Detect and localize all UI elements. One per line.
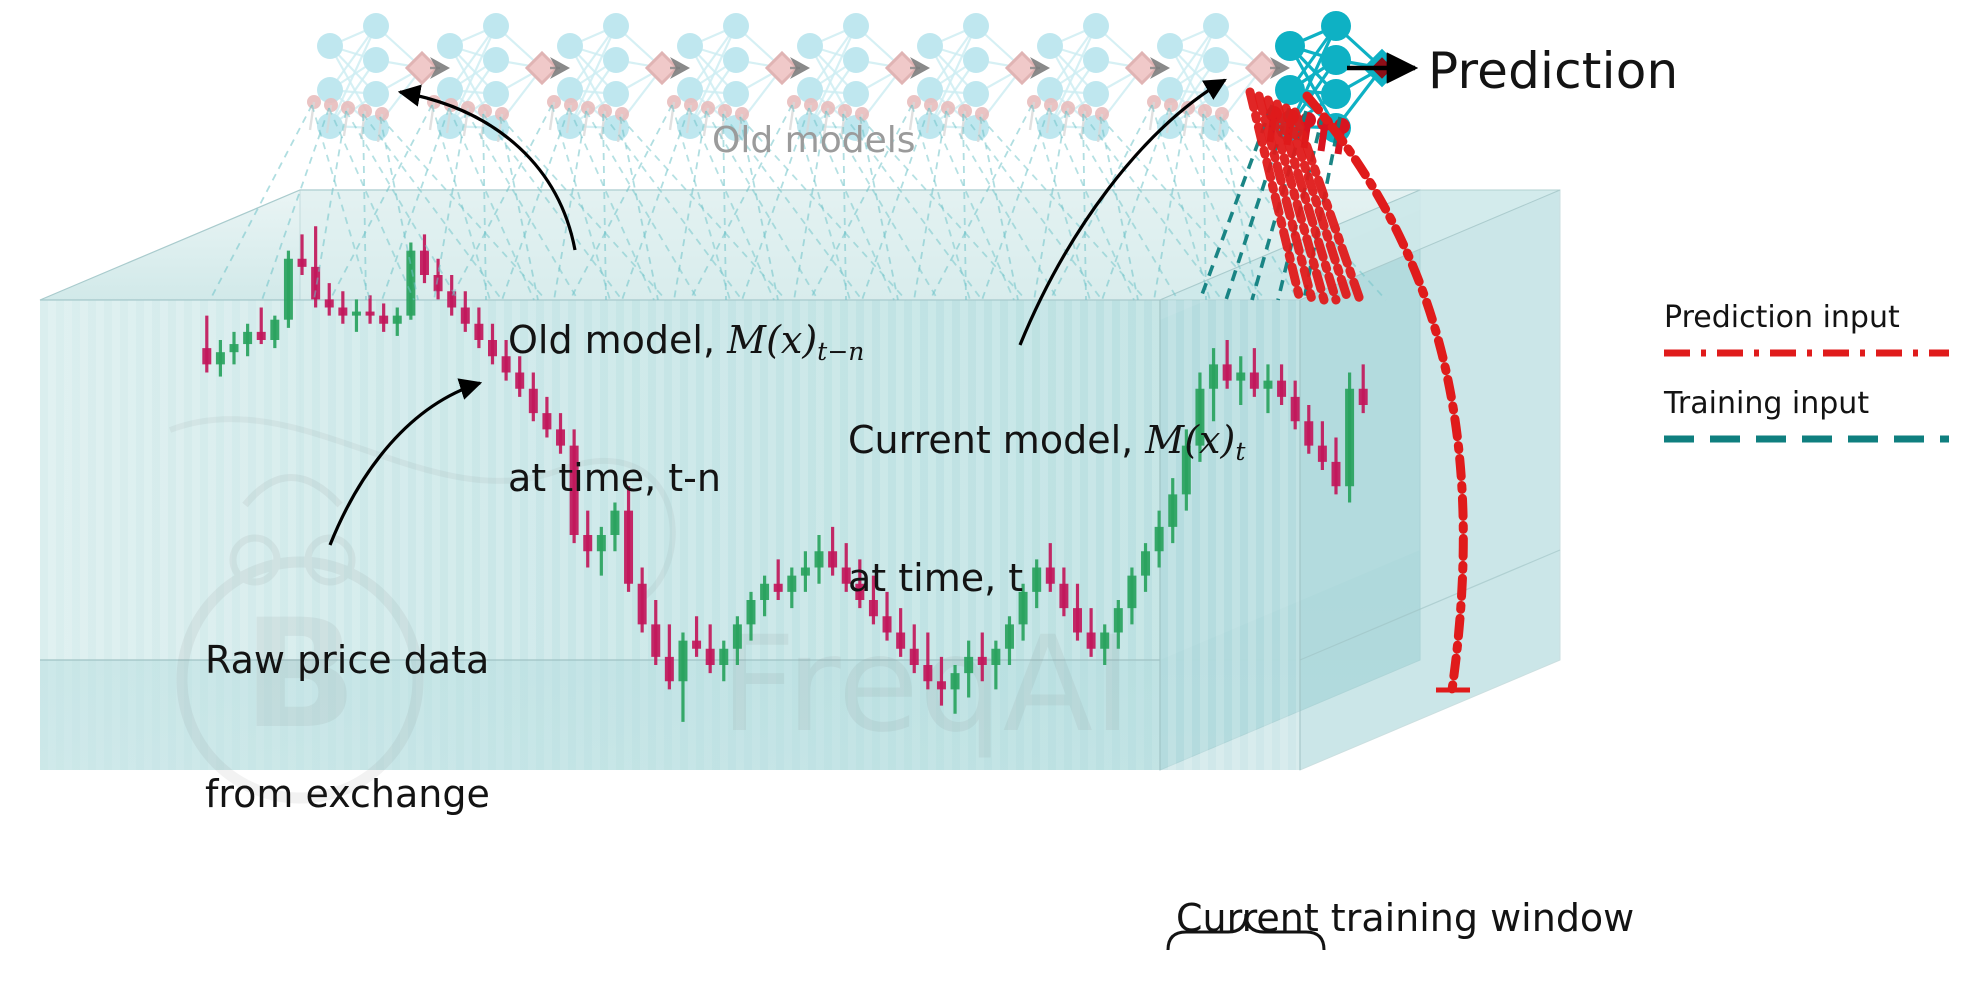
dashed-line-icon	[1664, 429, 1954, 451]
current-model-annotation-line1: Current model, M(x)t	[848, 418, 1245, 467]
dash-dot-line-icon	[1664, 343, 1954, 365]
prediction-curve	[1307, 96, 1463, 690]
current-model-annotation: Current model, M(x)t at time, t	[848, 328, 1245, 690]
old-model-annotation-line2: at time, t-n	[508, 456, 864, 501]
current-training-window-label: Current training window	[1176, 896, 1634, 940]
legend: Prediction input Training input	[1664, 300, 1954, 458]
raw-price-annotation: Raw price data from exchange	[205, 548, 490, 907]
legend-label-training-input: Training input	[1664, 386, 1954, 421]
legend-item-training-input: Training input	[1664, 386, 1954, 458]
raw-price-annotation-line2: from exchange	[205, 772, 490, 817]
old-models-label: Old models	[712, 120, 915, 161]
leader-current-model	[1020, 80, 1225, 345]
current-model-annotation-line2: at time, t	[848, 556, 1245, 601]
raw-price-annotation-line1: Raw price data	[205, 638, 490, 683]
leader-raw-price	[330, 383, 480, 545]
leader-old-model	[400, 92, 575, 250]
legend-label-prediction-input: Prediction input	[1664, 300, 1954, 335]
prediction-label: Prediction	[1428, 42, 1678, 100]
old-model-annotation: Old model, M(x)t−n at time, t-n	[508, 228, 864, 590]
diagram-canvas: B FreqAI Old	[0, 0, 1966, 981]
old-model-annotation-line1: Old model, M(x)t−n	[508, 318, 864, 367]
legend-item-prediction-input: Prediction input	[1664, 300, 1954, 372]
